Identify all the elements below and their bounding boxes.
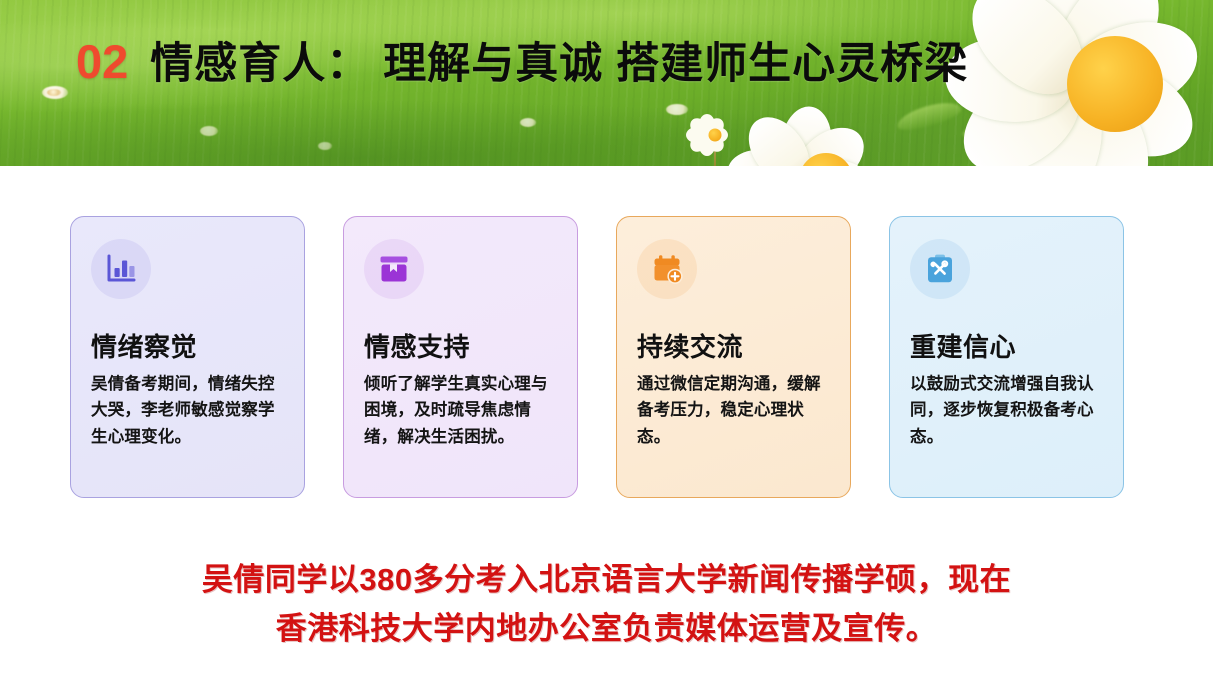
blossom-decor: [318, 142, 332, 150]
small-daisy-icon: [692, 112, 738, 158]
footer-line-2: 香港科技大学内地办公室负责媒体运营及宣传。: [0, 605, 1213, 654]
archive-box-icon: [364, 239, 424, 299]
header-banner: 02 情感育人： 理解与真诚 搭建师生心灵桥梁: [0, 0, 1213, 166]
feature-card-rebuild-confidence[interactable]: 重建信心 以鼓励式交流增强自我认同，逐步恢复积极备考心态。: [889, 216, 1124, 498]
card-body: 吴倩备考期间，情绪失控大哭，李老师敏感觉察学生心理变化。: [91, 371, 284, 451]
blossom-decor: [520, 118, 536, 127]
page-title: 情感育人： 理解与真诚 搭建师生心灵桥梁: [150, 43, 968, 86]
footer-line-1: 吴倩同学以380多分考入北京语言大学新闻传播学硕，现在: [0, 556, 1213, 605]
card-body: 倾听了解学生真实心理与困境，及时疏导焦虑情绪，解决生活困扰。: [364, 371, 557, 451]
feature-card-emotion-awareness[interactable]: 情绪察觉 吴倩备考期间，情绪失控大哭，李老师敏感觉察学生心理变化。: [70, 216, 305, 498]
daisy-flower-icon: [742, 96, 910, 166]
banner-title-group: 02 情感育人： 理解与真诚 搭建师生心灵桥梁: [76, 38, 968, 86]
feature-card-list: 情绪察觉 吴倩备考期间，情绪失控大哭，李老师敏感觉察学生心理变化。 情感支持 倾…: [70, 216, 1145, 498]
card-title: 情感支持: [364, 333, 557, 362]
section-number: 02: [76, 38, 128, 85]
blossom-decor: [200, 126, 218, 136]
calendar-add-icon: [637, 239, 697, 299]
blossom-decor: [47, 89, 61, 96]
feature-card-continuous-communication[interactable]: 持续交流 通过微信定期沟通，缓解备考压力，稳定心理状态。: [616, 216, 851, 498]
card-title: 情绪察觉: [91, 333, 284, 362]
feature-card-emotional-support[interactable]: 情感支持 倾听了解学生真实心理与困境，及时疏导焦虑情绪，解决生活困扰。: [343, 216, 578, 498]
card-body: 以鼓励式交流增强自我认同，逐步恢复积极备考心态。: [910, 371, 1103, 451]
footer-highlight: 吴倩同学以380多分考入北京语言大学新闻传播学硕，现在 香港科技大学内地办公室负…: [0, 556, 1213, 654]
card-title: 重建信心: [910, 333, 1103, 362]
bar-chart-icon: [91, 239, 151, 299]
clipboard-tools-icon: [910, 239, 970, 299]
daisy-flower-icon: [965, 0, 1213, 166]
blossom-decor: [666, 104, 688, 115]
card-title: 持续交流: [637, 333, 830, 362]
card-body: 通过微信定期沟通，缓解备考压力，稳定心理状态。: [637, 371, 830, 451]
slide-root: 02 情感育人： 理解与真诚 搭建师生心灵桥梁 情绪察觉 吴倩备考期间，情绪失控…: [0, 0, 1213, 693]
